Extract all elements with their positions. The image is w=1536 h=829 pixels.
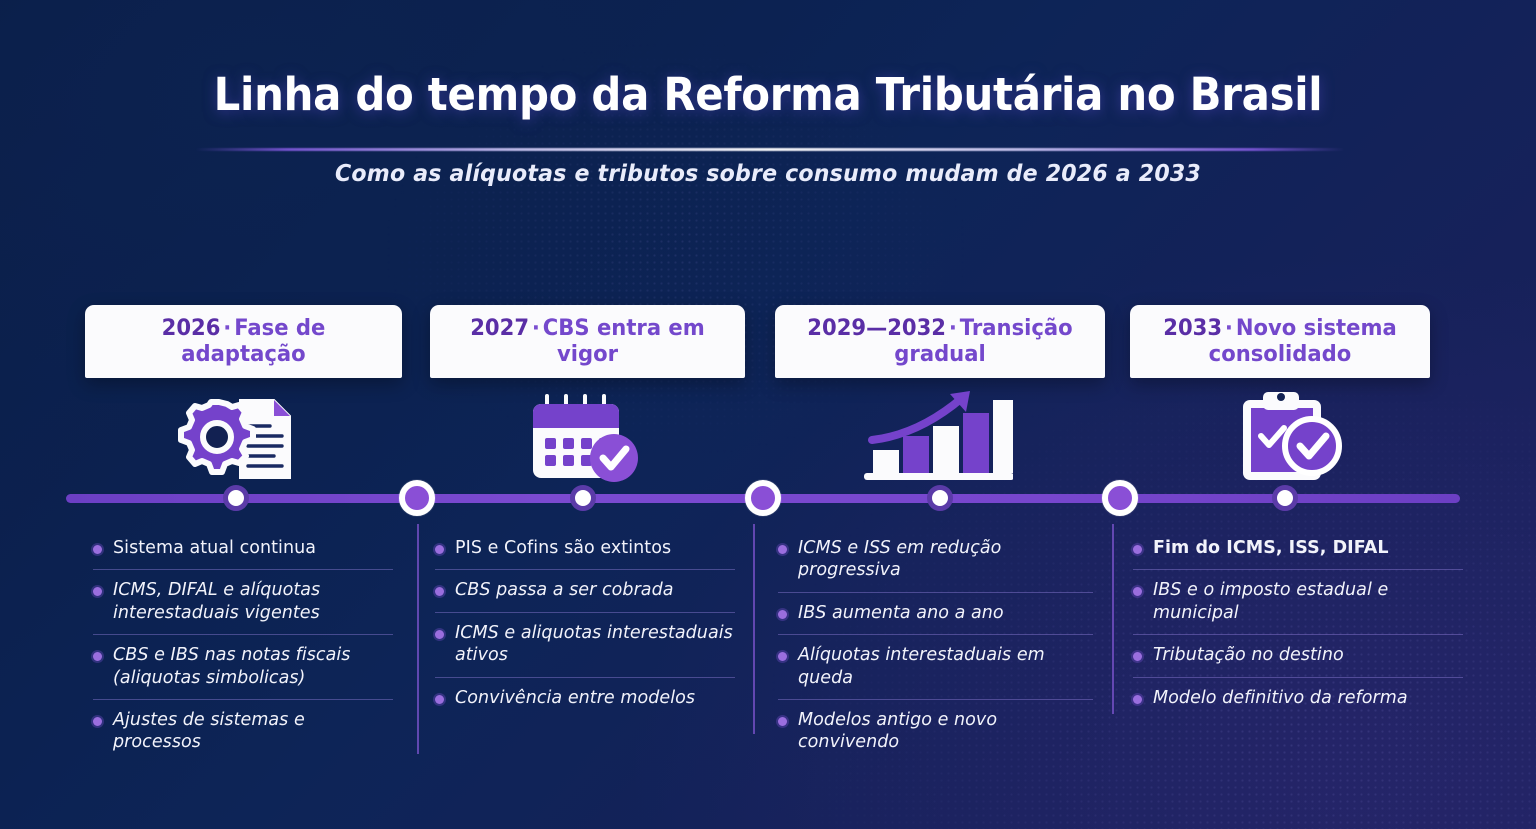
bullet-dot-icon: [778, 610, 787, 619]
page-title: Linha do tempo da Reforma Tributária no …: [54, 68, 1482, 121]
list-item: Alíquotas interestaduais em queda: [778, 635, 1093, 700]
bullet-dot-icon: [93, 545, 102, 554]
phase-card-2029-2032[interactable]: 2029—2032·Transição gradual: [775, 305, 1105, 378]
bullet-dot-icon: [435, 587, 444, 596]
column-divider-3: [1112, 524, 1114, 714]
page-subtitle: Como as alíquotas e tributos sobre consu…: [31, 161, 1506, 187]
list-item: Convivência entre modelos: [435, 678, 735, 719]
list-item-label: IBS e o imposto estadual e municipal: [1153, 579, 1463, 624]
bullet-list: PIS e Cofins são extintosCBS passa a ser…: [435, 528, 735, 719]
timeline-node-0[interactable]: [223, 485, 249, 511]
timeline-node-4[interactable]: [927, 485, 953, 511]
bullet-dot-icon: [93, 587, 102, 596]
phase-separator: ·: [1222, 316, 1236, 341]
phase-card-title: 2033·Novo sistema consolidado: [1148, 316, 1413, 367]
phase-separator: ·: [529, 316, 543, 341]
phase-separator: ·: [220, 316, 234, 341]
list-item-label: ICMS, DIFAL e alíquotas interestaduais v…: [113, 579, 393, 624]
list-item: Modelo definitivo da reforma: [1133, 678, 1463, 719]
bullet-dot-icon: [778, 717, 787, 726]
list-item-label: Modelos antigo e novo convivendo: [798, 709, 1093, 754]
list-item: ICMS e aliquotas interestaduais ativos: [435, 613, 735, 678]
bullet-dot-icon: [778, 652, 787, 661]
phase-card-2026[interactable]: 2026·Fase de adaptação: [85, 305, 402, 378]
list-item-label: ICMS e aliquotas interestaduais ativos: [455, 622, 735, 667]
phase-card-title: 2029—2032·Transição gradual: [793, 316, 1087, 367]
phase-year: 2026: [162, 316, 221, 341]
timeline-node-1[interactable]: [399, 480, 435, 516]
list-item-label: Fim do ICMS, ISS, DIFAL: [1153, 537, 1389, 559]
bullet-column-2033: Fim do ICMS, ISS, DIFALIBS e o imposto e…: [1133, 528, 1463, 719]
bullet-dot-icon: [778, 545, 787, 554]
calendar-check-icon: [525, 390, 645, 485]
bullet-dot-icon: [435, 695, 444, 704]
list-item: IBS e o imposto estadual e municipal: [1133, 570, 1463, 635]
list-item: CBS e IBS nas notas fiscais (aliquotas s…: [93, 635, 393, 700]
bullet-dot-icon: [93, 652, 102, 661]
title-divider: [195, 148, 1345, 151]
bullet-dot-icon: [1133, 695, 1142, 704]
list-item: Fim do ICMS, ISS, DIFAL: [1133, 528, 1463, 570]
bullet-dot-icon: [435, 630, 444, 639]
bullet-dot-icon: [93, 717, 102, 726]
bullet-dot-icon: [1133, 545, 1142, 554]
list-item: Modelos antigo e novo convivendo: [778, 700, 1093, 764]
list-item: Tributação no destino: [1133, 635, 1463, 677]
phase-separator: ·: [946, 316, 960, 341]
gear-document-icon: [178, 392, 328, 484]
list-item: Sistema atual continua: [93, 528, 393, 570]
bullet-dot-icon: [435, 545, 444, 554]
phase-label: CBS entra em vigor: [543, 316, 705, 367]
phase-card-title: 2026·Fase de adaptação: [103, 316, 384, 367]
bullet-column-2027: PIS e Cofins são extintosCBS passa a ser…: [435, 528, 735, 719]
bullet-column-2026: Sistema atual continuaICMS, DIFAL e alíq…: [93, 528, 393, 764]
phase-label: Novo sistema consolidado: [1209, 316, 1397, 367]
bullet-list: Fim do ICMS, ISS, DIFALIBS e o imposto e…: [1133, 528, 1463, 719]
phase-year: 2033: [1163, 316, 1222, 341]
bullet-dot-icon: [1133, 587, 1142, 596]
list-item-label: CBS e IBS nas notas fiscais (aliquotas s…: [113, 644, 393, 689]
list-item-label: Ajustes de sistemas e processos: [113, 709, 393, 754]
phase-year: 2029—2032: [807, 316, 946, 341]
phase-card-2033[interactable]: 2033·Novo sistema consolidado: [1130, 305, 1430, 378]
list-item: PIS e Cofins são extintos: [435, 528, 735, 570]
clipboard-check-icon: [1235, 388, 1350, 486]
phase-card-2027[interactable]: 2027·CBS entra em vigor: [430, 305, 745, 378]
column-divider-1: [417, 524, 419, 754]
list-item: CBS passa a ser cobrada: [435, 570, 735, 612]
list-item-label: PIS e Cofins são extintos: [455, 537, 671, 559]
bullet-dot-icon: [1133, 652, 1142, 661]
list-item: IBS aumenta ano a ano: [778, 593, 1093, 635]
phase-card-title: 2027·CBS entra em vigor: [448, 316, 727, 367]
list-item-label: Alíquotas interestaduais em queda: [798, 644, 1093, 689]
phase-year: 2027: [470, 316, 529, 341]
timeline-node-6[interactable]: [1272, 485, 1298, 511]
bullet-column-2029-2032: ICMS e ISS em redução progressivaIBS aum…: [778, 528, 1093, 764]
timeline-node-2[interactable]: [570, 485, 596, 511]
list-item-label: Convivência entre modelos: [455, 687, 695, 709]
timeline-node-3[interactable]: [745, 480, 781, 516]
list-item: ICMS, DIFAL e alíquotas interestaduais v…: [93, 570, 393, 635]
list-item: ICMS e ISS em redução progressiva: [778, 528, 1093, 593]
bullet-list: ICMS e ISS em redução progressivaIBS aum…: [778, 528, 1093, 764]
list-item-label: IBS aumenta ano a ano: [798, 602, 1004, 624]
list-item: Ajustes de sistemas e processos: [93, 700, 393, 764]
list-item-label: ICMS e ISS em redução progressiva: [798, 537, 1093, 582]
bullet-list: Sistema atual continuaICMS, DIFAL e alíq…: [93, 528, 393, 764]
bar-chart-growth-icon: [858, 388, 1013, 486]
column-divider-2: [753, 524, 755, 734]
list-item-label: CBS passa a ser cobrada: [455, 579, 674, 601]
list-item-label: Tributação no destino: [1153, 644, 1344, 666]
list-item-label: Sistema atual continua: [113, 537, 316, 559]
list-item-label: Modelo definitivo da reforma: [1153, 687, 1408, 709]
timeline-node-5[interactable]: [1102, 480, 1138, 516]
